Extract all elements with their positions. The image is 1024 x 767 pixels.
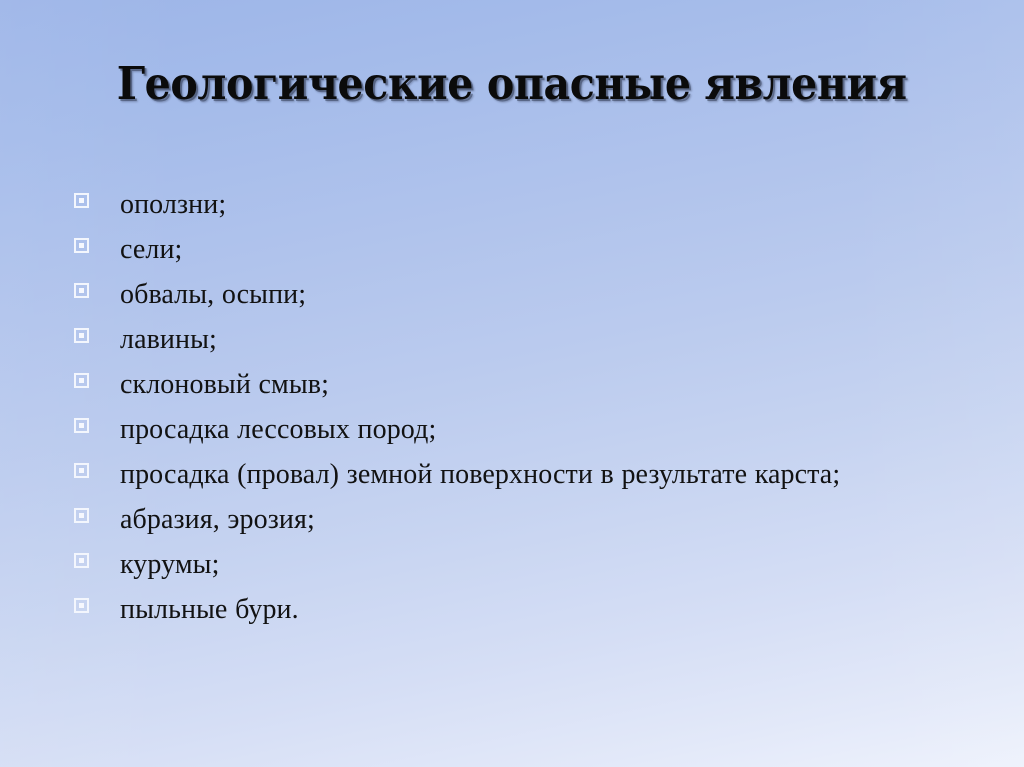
square-bullet-icon [74,283,89,298]
list-item[interactable]: склоновый смыв; [74,362,954,407]
list-item-label: обвалы, осыпи; [120,272,954,317]
square-bullet-icon [74,328,89,343]
list-item[interactable]: просадка (провал) земной поверхности в р… [74,452,954,497]
square-bullet-icon [74,463,89,478]
square-bullet-icon [74,193,89,208]
list-item-label: абразия, эрозия; [120,497,954,542]
list-item-label: сели; [120,227,954,272]
slide-title-container: Геологические опасные явления [0,60,1024,107]
presentation-slide: Геологические опасные явления оползни; с… [0,0,1024,767]
list-item-label: курумы; [120,542,954,587]
square-bullet-icon [74,238,89,253]
list-item[interactable]: обвалы, осыпи; [74,272,954,317]
list-item[interactable]: оползни; [74,182,954,227]
list-item-label: склоновый смыв; [120,362,954,407]
list-item-label: пыльные бури. [120,587,954,632]
square-bullet-icon [74,598,89,613]
list-item-label: просадка (провал) земной поверхности в р… [120,452,892,497]
list-item-label: оползни; [120,182,954,227]
list-item[interactable]: сели; [74,227,954,272]
list-item[interactable]: просадка лессовых пород; [74,407,954,452]
bulleted-list: оползни; сели; обвалы, осыпи; лавины; ск… [74,182,954,632]
list-item[interactable]: абразия, эрозия; [74,497,954,542]
square-bullet-icon [74,508,89,523]
list-item[interactable]: курумы; [74,542,954,587]
square-bullet-icon [74,418,89,433]
list-item-label: лавины; [120,317,954,362]
list-item[interactable]: лавины; [74,317,954,362]
square-bullet-icon [74,553,89,568]
list-item[interactable]: пыльные бури. [74,587,954,632]
page-title: Геологические опасные явления [117,60,907,107]
list-item-label: просадка лессовых пород; [120,407,954,452]
square-bullet-icon [74,373,89,388]
